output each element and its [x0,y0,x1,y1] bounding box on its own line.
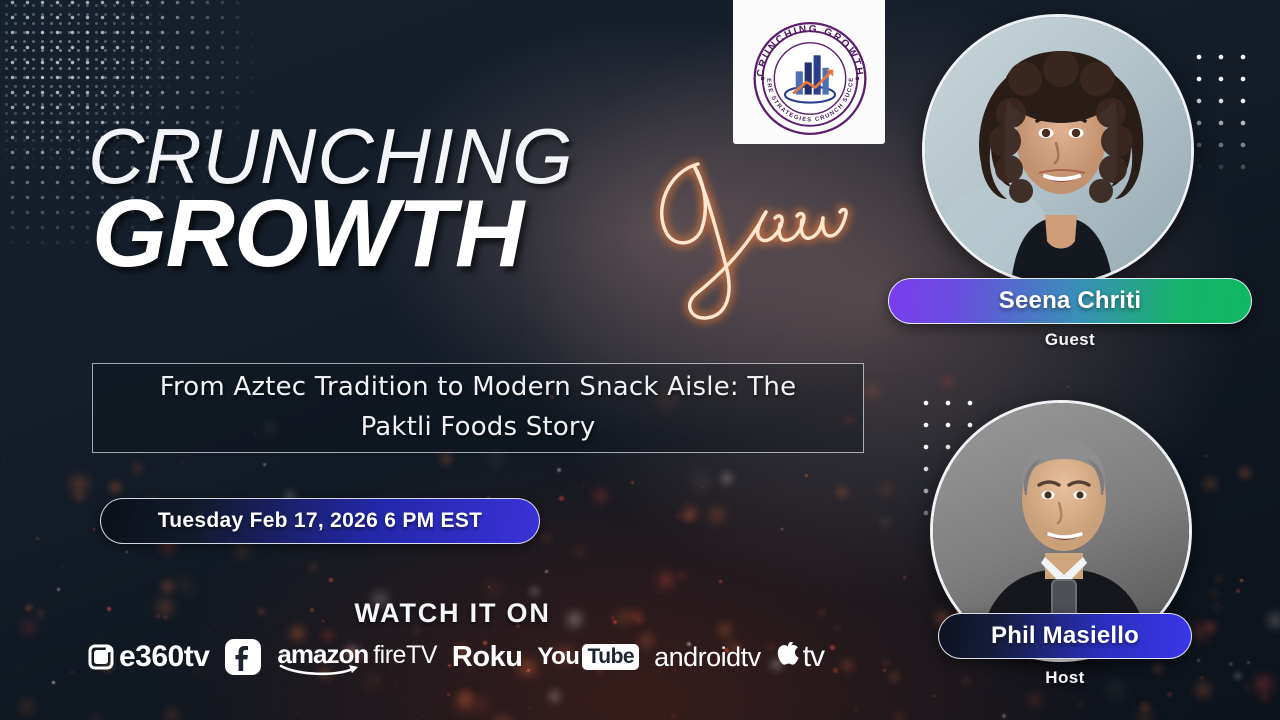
platform-androidtv: androidtv [654,642,761,673]
platform-e360tv: e360tv [86,640,209,674]
host-name: Phil Masiello [991,622,1139,650]
platform-youtube: You Tube [537,643,639,671]
youtube-you-label: You [537,643,579,671]
episode-datetime-badge: Tuesday Feb 17, 2026 6 PM EST [100,498,540,544]
guest-portrait [925,17,1194,286]
name-badge-guest: Seena Chriti [888,278,1252,324]
e360tv-icon [86,642,116,672]
platform-amazon-firetv: amazon fireTV [277,639,437,676]
episode-title: From Aztec Tradition to Modern Snack Ais… [121,368,835,447]
roku-label: Roku [452,641,523,674]
headline: CRUNCHING GROWTH [88,118,878,328]
firetv-label: fireTV [373,641,437,670]
promo-graphic: CRUNCHING GROWTH WHERE STRATEGIES CRUNCH… [0,0,1280,720]
facebook-icon [224,638,262,676]
dot-grid-guest [1188,46,1258,176]
apple-icon [776,642,803,672]
platform-appletv: tv [776,640,824,674]
androidtv-label: androidtv [654,642,761,673]
host-role: Host [938,668,1192,688]
youtube-tube-label: Tube [582,644,639,670]
guest-role: Guest [888,330,1252,350]
amazon-smile-icon [278,663,362,676]
e360tv-label: e360tv [119,640,209,674]
platform-facebook [224,638,262,676]
avatar-guest [922,14,1194,286]
name-badge-host: Phil Masiello [938,613,1192,659]
platform-logos: e360tv amazon fireTV Roku You Tube [100,634,810,680]
appletv-label: tv [803,640,824,674]
watch-it-on-label: WATCH IT ON [0,598,905,629]
platform-roku: Roku [452,641,523,674]
guest-name: Seena Chriti [999,287,1141,315]
episode-datetime: Tuesday Feb 17, 2026 6 PM EST [158,509,483,533]
headline-line-2: GROWTH [92,190,878,278]
episode-title-box: From Aztec Tradition to Modern Snack Ais… [92,363,864,453]
